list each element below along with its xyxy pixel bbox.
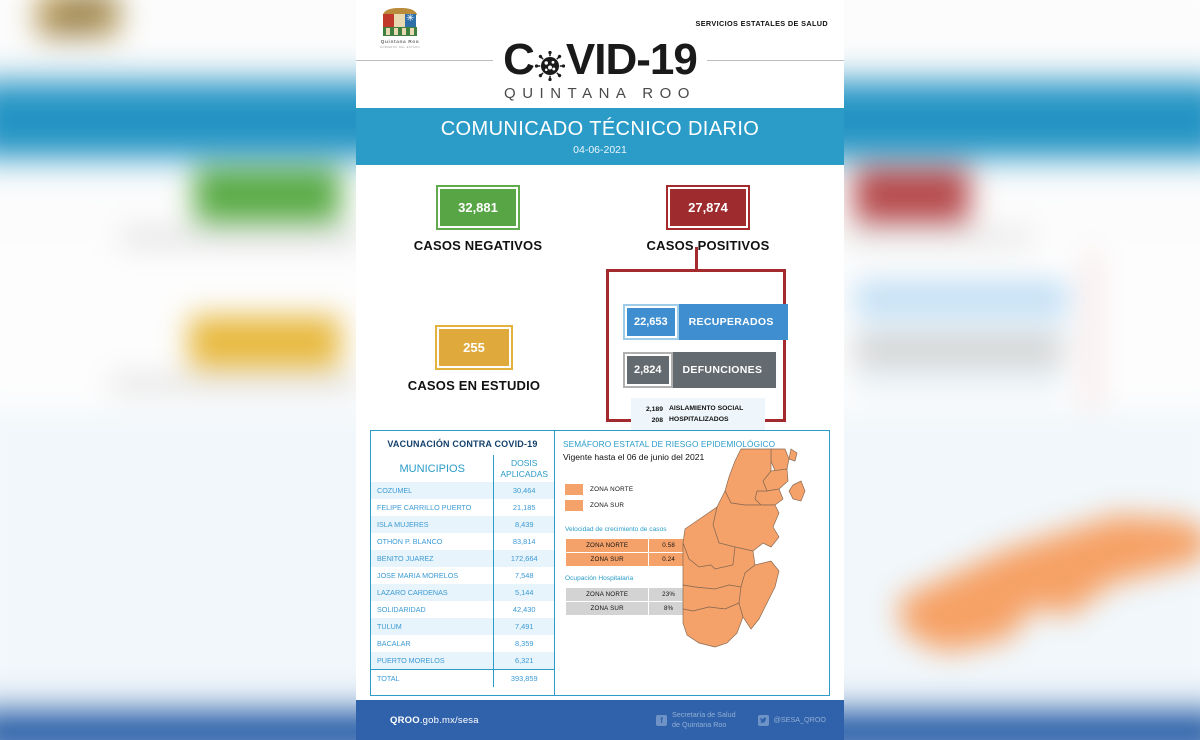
- title-after: VID-19: [566, 38, 697, 82]
- covid-title-row: C: [356, 38, 844, 82]
- facebook-link[interactable]: f Secretaría de Salud de Quintana Roo: [656, 710, 736, 729]
- bracket-frame: 22,653 RECUPERADOS 2,824 DEFUNCIONES 2,1…: [606, 269, 786, 422]
- aislamiento-label: AISLAMIENTO SOCIAL: [669, 404, 743, 414]
- positivos-value: 27,874: [670, 189, 746, 226]
- velocidad-heading: Velocidad de crecimiento de casos: [565, 526, 690, 535]
- cell-dosis: 83,814: [494, 533, 554, 550]
- cell-municipio: LAZARO CARDENAS: [371, 584, 494, 601]
- table-row: PUERTO MORELOS6,321: [371, 652, 554, 670]
- cell-dosis: 172,664: [494, 550, 554, 567]
- twitter-link[interactable]: @SESA_QROO: [758, 715, 826, 726]
- positivos-box: 27,874: [666, 185, 750, 230]
- footer-website-rest: .gob.mx/sesa: [420, 715, 479, 726]
- table-row: JOSE MARIA MORELOS7,548: [371, 567, 554, 584]
- table-header-row: MUNICIPIOS DOSIS APLICADAS: [371, 455, 554, 482]
- footer-website-bold: QROO: [390, 715, 420, 726]
- table-row: LAZARO CARDENAS5,144: [371, 584, 554, 601]
- page-title: C: [493, 38, 707, 82]
- defunciones-value: 2,824: [627, 356, 669, 384]
- velocidad-zona-norte-label: ZONA NORTE: [566, 538, 649, 552]
- ocupacion-zona-norte-label: ZONA NORTE: [566, 587, 649, 601]
- footer-socials: f Secretaría de Salud de Quintana Roo @S…: [634, 710, 826, 729]
- statistics-section: 32,881 CASOS NEGATIVOS 27,874 CASOS POSI…: [356, 165, 844, 433]
- table-row: BACALAR8,359: [371, 635, 554, 652]
- footer-website: QROO.gob.mx/sesa: [390, 715, 479, 726]
- hospitalizados-value: 208: [637, 417, 663, 424]
- active-cases-breakdown: 2,189 AISLAMIENTO SOCIAL 208 HOSPITALIZA…: [631, 398, 765, 431]
- vaccination-table: MUNICIPIOS DOSIS APLICADAS COZUMEL30,464…: [371, 455, 554, 687]
- col-header-municipios: MUNICIPIOS: [371, 455, 494, 482]
- recuperados-value: 22,653: [627, 308, 675, 336]
- cell-dosis: 5,144: [494, 584, 554, 601]
- cell-municipio: JOSE MARIA MORELOS: [371, 567, 494, 584]
- banner-title: COMUNICADO TÉCNICO DIARIO: [441, 118, 760, 141]
- table-row: ZONA SUR 8%: [566, 601, 689, 615]
- legend-label-zona-norte: ZONA NORTE: [590, 486, 633, 493]
- covid-report-poster: Quintana Roo GOBIERNO DEL ESTADO SERVICI…: [356, 0, 844, 740]
- screenshot-root: Quintana Roo GOBIERNO DEL ESTADO SERVICI…: [0, 0, 1200, 740]
- rule-right: [707, 60, 844, 61]
- cell-dosis: 393,859: [494, 670, 554, 688]
- cell-municipio: OTHON P. BLANCO: [371, 533, 494, 550]
- poster-subtitle: QUINTANA ROO: [356, 85, 844, 102]
- negativos-value: 32,881: [440, 189, 516, 226]
- cell-municipio: FELIPE CARRILLO PUERTO: [371, 499, 494, 516]
- banner-date: 04-06-2021: [573, 144, 627, 156]
- en-estudio-label: CASOS EN ESTUDIO: [384, 378, 564, 393]
- legend-label-zona-sur: ZONA SUR: [590, 502, 624, 509]
- defunciones-label: DEFUNCIONES: [673, 352, 777, 388]
- table-row: FELIPE CARRILLO PUERTO21,185: [371, 499, 554, 516]
- defunciones-box: 2,824: [623, 352, 673, 388]
- table-row: ZONA SUR 0.24: [566, 552, 689, 566]
- recuperados-label: RECUPERADOS: [679, 304, 788, 340]
- ocupacion-table: ZONA NORTE 23% ZONA SUR 8%: [565, 587, 689, 616]
- cell-dosis: 42,430: [494, 601, 554, 618]
- facebook-line1: Secretaría de Salud: [672, 710, 736, 720]
- quintana-roo-state-map: [675, 447, 823, 677]
- table-row: SOLIDARIDAD42,430: [371, 601, 554, 618]
- ocupacion-section: Ocupación Hospitalaria ZONA NORTE 23% ZO…: [555, 567, 690, 616]
- cell-dosis: 30,464: [494, 482, 554, 499]
- coat-of-arms-icon: [381, 8, 419, 38]
- stat-recuperados: 22,653 RECUPERADOS: [623, 304, 788, 340]
- stat-casos-en-estudio: 255 CASOS EN ESTUDIO: [384, 325, 564, 393]
- table-row: ISLA MUJERES8,439: [371, 516, 554, 533]
- col-header-dosis-line2: APLICADAS: [496, 469, 552, 480]
- table-row: BENITO JUAREZ172,664: [371, 550, 554, 567]
- vaccination-title: VACUNACIÓN CONTRA COVID-19: [371, 431, 554, 455]
- legend-swatch-zona-sur: [565, 500, 583, 511]
- table-row: ZONA NORTE 23%: [566, 587, 689, 601]
- velocidad-section: Velocidad de crecimiento de casos ZONA N…: [555, 516, 690, 567]
- velocidad-table: ZONA NORTE 0.58 ZONA SUR 0.24: [565, 538, 689, 567]
- daily-report-banner: COMUNICADO TÉCNICO DIARIO 04-06-2021: [356, 108, 844, 165]
- cell-municipio: BENITO JUAREZ: [371, 550, 494, 567]
- positivos-breakdown-bracket: 22,653 RECUPERADOS 2,824 DEFUNCIONES 2,1…: [606, 247, 786, 422]
- bottom-panel: VACUNACIÓN CONTRA COVID-19 MUNICIPIOS DO…: [370, 430, 830, 696]
- stat-defunciones: 2,824 DEFUNCIONES: [623, 352, 776, 388]
- cell-dosis: 7,548: [494, 567, 554, 584]
- bracket-stem: [695, 247, 698, 269]
- cell-dosis: 6,321: [494, 652, 554, 670]
- facebook-icon: f: [656, 715, 667, 726]
- title-before: C: [503, 38, 534, 82]
- breakdown-row: 208 HOSPITALIZADOS: [637, 415, 759, 425]
- facebook-line2: de Quintana Roo: [672, 720, 736, 730]
- ocupacion-zona-sur-label: ZONA SUR: [566, 601, 649, 615]
- legend-swatch-zona-norte: [565, 484, 583, 495]
- velocidad-zona-sur-label: ZONA SUR: [566, 552, 649, 566]
- cell-municipio: TOTAL: [371, 670, 494, 688]
- en-estudio-value: 255: [439, 329, 509, 366]
- stat-casos-positivos: 27,874 CASOS POSITIVOS: [618, 185, 798, 253]
- services-label: SERVICIOS ESTATALES DE SALUD: [695, 19, 828, 28]
- table-row: COZUMEL30,464: [371, 482, 554, 499]
- cell-municipio: TULUM: [371, 618, 494, 635]
- aislamiento-value: 2,189: [637, 406, 663, 413]
- negativos-label: CASOS NEGATIVOS: [388, 238, 568, 253]
- recuperados-box: 22,653: [623, 304, 679, 340]
- cell-municipio: SOLIDARIDAD: [371, 601, 494, 618]
- semaforo-panel: SEMÁFORO ESTATAL DE RIESGO EPIDEMIOLÓGIC…: [555, 431, 829, 695]
- cell-municipio: BACALAR: [371, 635, 494, 652]
- table-row: TULUM7,491: [371, 618, 554, 635]
- cell-municipio: ISLA MUJERES: [371, 516, 494, 533]
- table-row: TOTAL393,859: [371, 670, 554, 688]
- table-row: ZONA NORTE 0.58: [566, 538, 689, 552]
- cell-dosis: 8,359: [494, 635, 554, 652]
- rule-left: [356, 60, 493, 61]
- negativos-box: 32,881: [436, 185, 520, 230]
- poster-footer: QROO.gob.mx/sesa f Secretaría de Salud d…: [356, 700, 844, 740]
- coronavirus-icon: [535, 45, 565, 75]
- cell-dosis: 7,491: [494, 618, 554, 635]
- col-header-dosis: DOSIS APLICADAS: [494, 455, 554, 482]
- twitter-icon: [758, 715, 769, 726]
- col-header-dosis-line1: DOSIS: [496, 458, 552, 469]
- breakdown-row: 2,189 AISLAMIENTO SOCIAL: [637, 404, 759, 414]
- stat-casos-negativos: 32,881 CASOS NEGATIVOS: [388, 185, 568, 253]
- facebook-label: Secretaría de Salud de Quintana Roo: [672, 710, 736, 729]
- cell-dosis: 8,439: [494, 516, 554, 533]
- cell-municipio: COZUMEL: [371, 482, 494, 499]
- en-estudio-box: 255: [435, 325, 513, 370]
- cell-dosis: 21,185: [494, 499, 554, 516]
- hospitalizados-label: HOSPITALIZADOS: [669, 415, 729, 425]
- ocupacion-heading: Ocupación Hospitalaria: [565, 575, 690, 584]
- poster-header: Quintana Roo GOBIERNO DEL ESTADO SERVICI…: [356, 0, 844, 108]
- cell-municipio: PUERTO MORELOS: [371, 652, 494, 670]
- vaccination-panel: VACUNACIÓN CONTRA COVID-19 MUNICIPIOS DO…: [371, 431, 555, 695]
- table-row: OTHON P. BLANCO83,814: [371, 533, 554, 550]
- twitter-handle: @SESA_QROO: [774, 715, 826, 725]
